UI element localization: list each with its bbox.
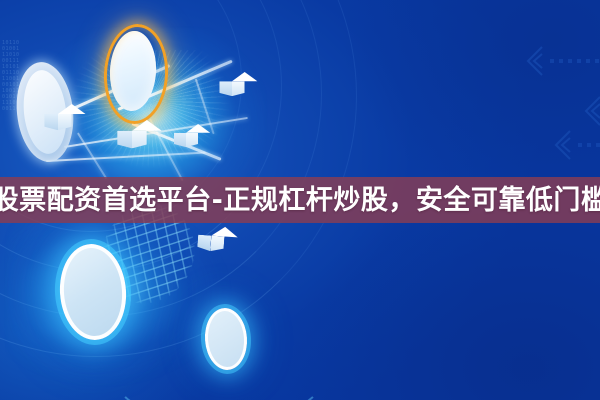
chevron-left-icon [522,44,548,78]
chevron-left-icon [550,128,576,162]
promo-banner-text: 股票配资首选平台-正规杠杆炒股，安全可靠低门槛 [0,187,600,214]
promo-image-canvas: 10110 01001 11010 00111 10101 01110 1100… [0,0,600,400]
cube-top-face [186,124,210,133]
chevron-dot-trail [578,143,600,147]
chevron-dot-trail [550,59,600,63]
cube-top-face [232,72,257,81]
chevron-left-icon [580,94,600,128]
cube-top-face [58,104,86,114]
promo-banner: 股票配资首选平台-正规杠杆炒股，安全可靠低门槛 [0,177,600,223]
cube-top-face [132,120,162,131]
